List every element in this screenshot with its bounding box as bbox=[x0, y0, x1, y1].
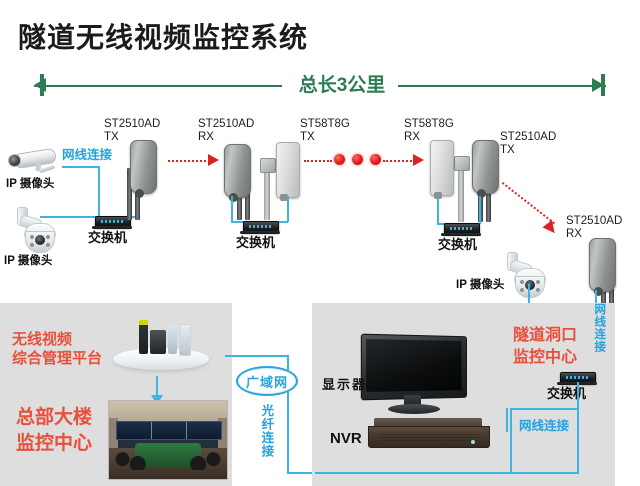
wire-radio-b-out-down bbox=[287, 196, 289, 222]
camera-arm bbox=[39, 165, 55, 174]
label-radio-d-model: ST2510AD bbox=[566, 215, 622, 228]
camera-ir-leds bbox=[519, 279, 541, 294]
total-length-dimension: 总长3公里 bbox=[26, 74, 616, 98]
radio-d-antenna-st2510ad-rx bbox=[589, 238, 616, 292]
wireless-link-dot-1 bbox=[334, 154, 345, 165]
label-switch-c: 交换机 bbox=[438, 238, 477, 253]
label-lan-link-horizontal: 网线连接 bbox=[519, 419, 569, 433]
headquarters-control-room-photo bbox=[108, 400, 228, 480]
radio-c-pole-head bbox=[454, 156, 470, 171]
management-platform-icon bbox=[113, 318, 209, 370]
label-radio-c-out-role: TX bbox=[500, 144, 515, 157]
wire-nvr-to-switch-h bbox=[510, 408, 577, 410]
radio-c-antenna-st58t8g-rx bbox=[430, 140, 454, 196]
label-portal-center-line1: 隧道洞口 bbox=[513, 326, 577, 346]
monitor-foot bbox=[388, 404, 440, 414]
label-nvr: NVR bbox=[330, 430, 362, 447]
radio-b-antenna-st2510ad-rx bbox=[224, 144, 251, 198]
radio-b2-pole-head bbox=[260, 158, 276, 173]
nvr-device-icon bbox=[368, 418, 488, 448]
wireless-link-c-d-arrow-icon bbox=[543, 220, 560, 237]
label-monitor: 显示器 bbox=[322, 378, 367, 393]
monitor-bezel bbox=[361, 334, 467, 401]
camera-ir-leds bbox=[29, 234, 51, 249]
photo-ceiling bbox=[109, 401, 227, 421]
wire-radio-b-in-down bbox=[231, 196, 233, 222]
label-radio-a-model: ST2510AD bbox=[104, 118, 160, 131]
wire-bullet-to-switch-h bbox=[62, 166, 100, 168]
label-ip-camera-dome-d: IP 摄像头 bbox=[456, 279, 504, 292]
photo-chairs bbox=[114, 443, 223, 470]
label-hq-center-line2: 监控中心 bbox=[16, 432, 92, 456]
platform-server-3 bbox=[168, 326, 177, 354]
page-title: 隧道无线视频监控系统 bbox=[18, 16, 308, 56]
wireless-link-a-b bbox=[168, 160, 210, 162]
ip-camera-bullet-icon bbox=[6, 146, 60, 172]
dimension-cap-right bbox=[601, 74, 605, 96]
label-radio-b-in-role: RX bbox=[198, 131, 214, 144]
wire-fiber-v bbox=[287, 392, 289, 474]
camera-globe bbox=[515, 276, 545, 298]
wire-radio-c-in-down bbox=[437, 196, 439, 224]
wire-bullet-to-switch-v bbox=[98, 166, 100, 218]
wire-dome-to-switch-h bbox=[40, 216, 100, 218]
label-platform-line2: 综合管理平台 bbox=[12, 350, 102, 369]
wire-wan-top-h bbox=[225, 355, 289, 357]
label-switch-portal: 交换机 bbox=[547, 387, 586, 402]
diagram-canvas: 隧道无线视频监控系统 总长3公里 IP 摄像头 IP 摄像头 网线连接 交换机 bbox=[0, 0, 640, 486]
radio-b2-pole bbox=[264, 168, 270, 220]
label-switch-a: 交换机 bbox=[88, 231, 127, 246]
wireless-link-b-c-arrow-icon bbox=[413, 154, 424, 166]
wireless-link-dot-3 bbox=[370, 154, 381, 165]
label-ip-camera-dome: IP 摄像头 bbox=[4, 255, 52, 268]
label-radio-c-in-model: ST58T8G bbox=[404, 118, 454, 131]
camera-globe bbox=[25, 231, 55, 253]
label-switch-b: 交换机 bbox=[236, 236, 275, 251]
label-hq-center-line1: 总部大楼 bbox=[16, 406, 92, 430]
wire-radio-c-out-down bbox=[479, 196, 481, 224]
label-portal-center-line2: 监控中心 bbox=[513, 348, 577, 368]
label-ip-camera-bullet: IP 摄像头 bbox=[6, 178, 54, 191]
label-radio-c-in-role: RX bbox=[404, 131, 420, 144]
platform-server-2 bbox=[150, 330, 166, 354]
radio-c-antenna-st2510ad-tx bbox=[472, 140, 499, 194]
label-lan-link-site-a: 网线连接 bbox=[62, 148, 112, 162]
wire-nvr-riser-v bbox=[510, 408, 512, 472]
monitor-screen bbox=[366, 339, 461, 392]
network-switch-a-base bbox=[92, 226, 132, 229]
ip-camera-dome-icon bbox=[14, 206, 58, 252]
dimension-line-left bbox=[34, 85, 284, 87]
display-monitor-icon bbox=[362, 335, 468, 415]
radio-b-antenna-st58t8g-tx bbox=[276, 142, 300, 198]
platform-to-center-arrow-icon bbox=[156, 376, 158, 396]
label-radio-d-role: RX bbox=[566, 228, 582, 241]
wireless-link-c-d bbox=[502, 182, 555, 224]
label-radio-b-out-role: TX bbox=[300, 131, 315, 144]
label-lan-link-vertical: 网线连接 bbox=[592, 303, 605, 353]
radio-a-antenna-st2510ad-tx bbox=[130, 140, 157, 194]
label-fiber-link: 光纤连接 bbox=[259, 404, 273, 458]
platform-server-1 bbox=[139, 320, 148, 354]
label-radio-c-out-model: ST2510AD bbox=[500, 131, 556, 144]
wire-nvr-drop bbox=[506, 408, 508, 432]
wireless-link-b-c-seg2 bbox=[383, 160, 415, 162]
wire-bottom-bus bbox=[315, 472, 578, 474]
wireless-link-b-c-seg1 bbox=[304, 160, 332, 162]
label-radio-a-role: TX bbox=[104, 131, 119, 144]
ip-camera-dome-d-icon bbox=[504, 251, 548, 297]
wire-fiber-h bbox=[287, 472, 315, 474]
radio-c-pole bbox=[458, 166, 464, 222]
label-radio-b-in-model: ST2510AD bbox=[198, 118, 254, 131]
nvr-front bbox=[368, 426, 490, 448]
network-switch-b-base bbox=[240, 231, 280, 234]
dimension-label: 总长3公里 bbox=[282, 70, 402, 97]
nvr-led bbox=[471, 440, 475, 444]
label-platform-line1: 无线视频 bbox=[12, 331, 72, 350]
photo-video-wall bbox=[116, 421, 222, 440]
wireless-link-a-b-arrow-icon bbox=[208, 154, 219, 166]
wireless-link-dot-2 bbox=[352, 154, 363, 165]
dimension-line-right bbox=[398, 85, 606, 87]
platform-server-4 bbox=[179, 324, 191, 356]
network-switch-c-base bbox=[441, 233, 481, 236]
wire-switch-to-nvr-v bbox=[577, 382, 579, 474]
label-radio-b-out-model: ST58T8G bbox=[300, 118, 350, 131]
